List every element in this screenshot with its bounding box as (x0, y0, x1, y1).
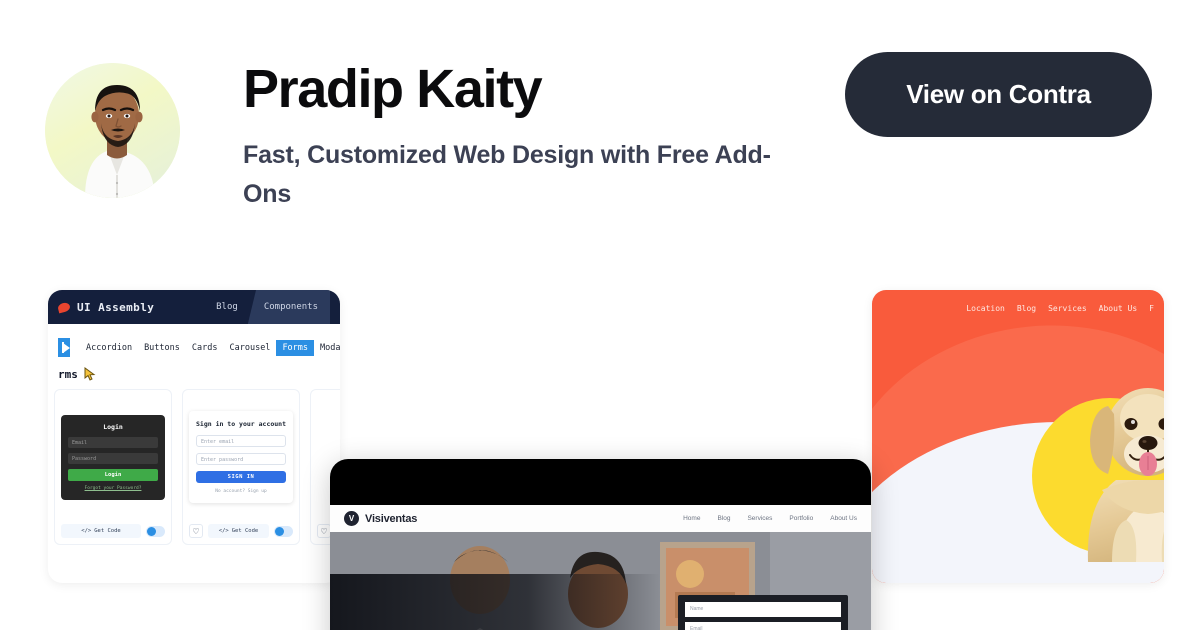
visiventas-nav-home[interactable]: Home (683, 515, 700, 522)
hero-overlay (330, 574, 660, 630)
contra-profile-card: Pradip Kaity Fast, Customized Web Design… (0, 0, 1200, 630)
ui-assembly-component-grid: Login Email Password Login Forgot your P… (48, 381, 340, 545)
ui-assembly-nav-components[interactable]: Components (248, 290, 330, 324)
name-field[interactable]: Name (685, 602, 841, 617)
email-field[interactable]: Enter email (196, 435, 286, 447)
tab-modals[interactable]: Modals (314, 340, 340, 356)
component-card[interactable]: Login Email Password Login Forgot your P… (54, 389, 172, 545)
ui-assembly-navbar: UI Assembly Blog Components (48, 290, 340, 324)
login-form-dark: Login Email Password Login Forgot your P… (61, 415, 165, 500)
get-code-button[interactable]: </> Get Code (61, 524, 141, 538)
project-card-pet-care[interactable]: Location Blog Services About Us F are! r… (872, 290, 1164, 583)
email-field[interactable]: Email (68, 437, 158, 448)
signin-button[interactable]: SIGN IN (196, 471, 286, 483)
visiventas-screen: V Visiventas Home Blog Services Portfoli… (330, 505, 871, 630)
preview-toggle[interactable] (146, 526, 165, 537)
component-preview: Login Email Password Login Forgot your P… (61, 398, 165, 516)
ui-assembly-logo-icon (57, 301, 71, 313)
cursor-icon (84, 367, 96, 381)
visiventas-nav-portfolio[interactable]: Portfolio (789, 515, 813, 522)
profile-tagline: Fast, Customized Web Design with Free Ad… (243, 136, 783, 214)
component-actions: ♡ </> Get Code (189, 516, 293, 538)
avatar-photo (45, 63, 180, 198)
project-card-visiventas[interactable]: V Visiventas Home Blog Services Portfoli… (330, 459, 871, 630)
pet-care-navbar: Location Blog Services About Us F (872, 304, 1164, 313)
dog-photo (1058, 362, 1164, 583)
play-icon[interactable] (58, 338, 70, 357)
forgot-password-link[interactable]: Forgot your Password? (68, 486, 158, 491)
ui-assembly-nav-blog[interactable]: Blog (206, 302, 248, 312)
pet-care-nav-more[interactable]: F (1149, 304, 1154, 313)
login-form-light: Sign in to your account Enter email Ente… (189, 411, 293, 503)
password-field[interactable]: Enter password (196, 453, 286, 465)
login-title: Login (68, 423, 158, 431)
visiventas-hero: We run social media campaigns that boost… (330, 532, 871, 630)
pet-care-hero: Location Blog Services About Us F are! r… (872, 290, 1164, 583)
preview-toggle[interactable] (274, 526, 293, 537)
ui-assembly-tabbar: Accordion Buttons Cards Carousel Forms M… (48, 324, 340, 357)
get-code-label: Get Code (232, 528, 259, 534)
signup-link[interactable]: No account? Sign up (196, 489, 286, 494)
pet-care-nav-about[interactable]: About Us (1099, 304, 1138, 313)
heart-icon[interactable]: ♡ (189, 524, 203, 538)
tab-accordion[interactable]: Accordion (80, 340, 138, 356)
pet-care-nav-blog[interactable]: Blog (1017, 304, 1036, 313)
project-gallery: UI Assembly Blog Components Accordion Bu… (0, 225, 1200, 630)
visiventas-nav-blog[interactable]: Blog (717, 515, 730, 522)
component-card[interactable]: Sign in to your account Enter email Ente… (182, 389, 300, 545)
visiventas-brand: Visiventas (365, 513, 417, 525)
get-code-button[interactable]: </> Get Code (208, 524, 269, 538)
profile-header: Pradip Kaity Fast, Customized Web Design… (0, 0, 1200, 225)
component-preview: Sign in to your account Enter email Ente… (189, 398, 293, 516)
code-icon: </> (81, 528, 91, 534)
pet-care-nav-services[interactable]: Services (1048, 304, 1087, 313)
section-heading-label: rms (58, 368, 78, 381)
view-on-contra-label: View on Contra (906, 79, 1091, 110)
tab-buttons[interactable]: Buttons (138, 340, 186, 356)
code-icon: </> (219, 528, 229, 534)
ui-assembly-brand: UI Assembly (77, 301, 154, 314)
password-field[interactable]: Password (68, 453, 158, 464)
project-card-ui-assembly[interactable]: UI Assembly Blog Components Accordion Bu… (48, 290, 340, 583)
visiventas-navbar: V Visiventas Home Blog Services Portfoli… (330, 505, 871, 532)
email-field[interactable]: Email (685, 622, 841, 630)
pet-care-nav-location[interactable]: Location (966, 304, 1005, 313)
contact-form: Name Email Which business industry? Mess… (678, 595, 848, 630)
ui-assembly-section-heading: rms (48, 357, 340, 381)
login-button[interactable]: Login (68, 469, 158, 481)
view-on-contra-button[interactable]: View on Contra (845, 52, 1152, 137)
avatar (45, 63, 180, 198)
tab-forms[interactable]: Forms (276, 340, 314, 356)
page-title: Pradip Kaity (243, 57, 541, 121)
component-actions: </> Get Code (61, 516, 165, 538)
get-code-label: Get Code (94, 528, 121, 534)
signin-title: Sign in to your account (196, 420, 286, 428)
heart-icon[interactable]: ♡ (317, 524, 331, 538)
visiventas-logo-icon: V (344, 511, 359, 526)
visiventas-nav-services[interactable]: Services (747, 515, 772, 522)
tab-carousel[interactable]: Carousel (223, 340, 276, 356)
tab-cards[interactable]: Cards (186, 340, 224, 356)
visiventas-nav-about[interactable]: About Us (830, 515, 857, 522)
